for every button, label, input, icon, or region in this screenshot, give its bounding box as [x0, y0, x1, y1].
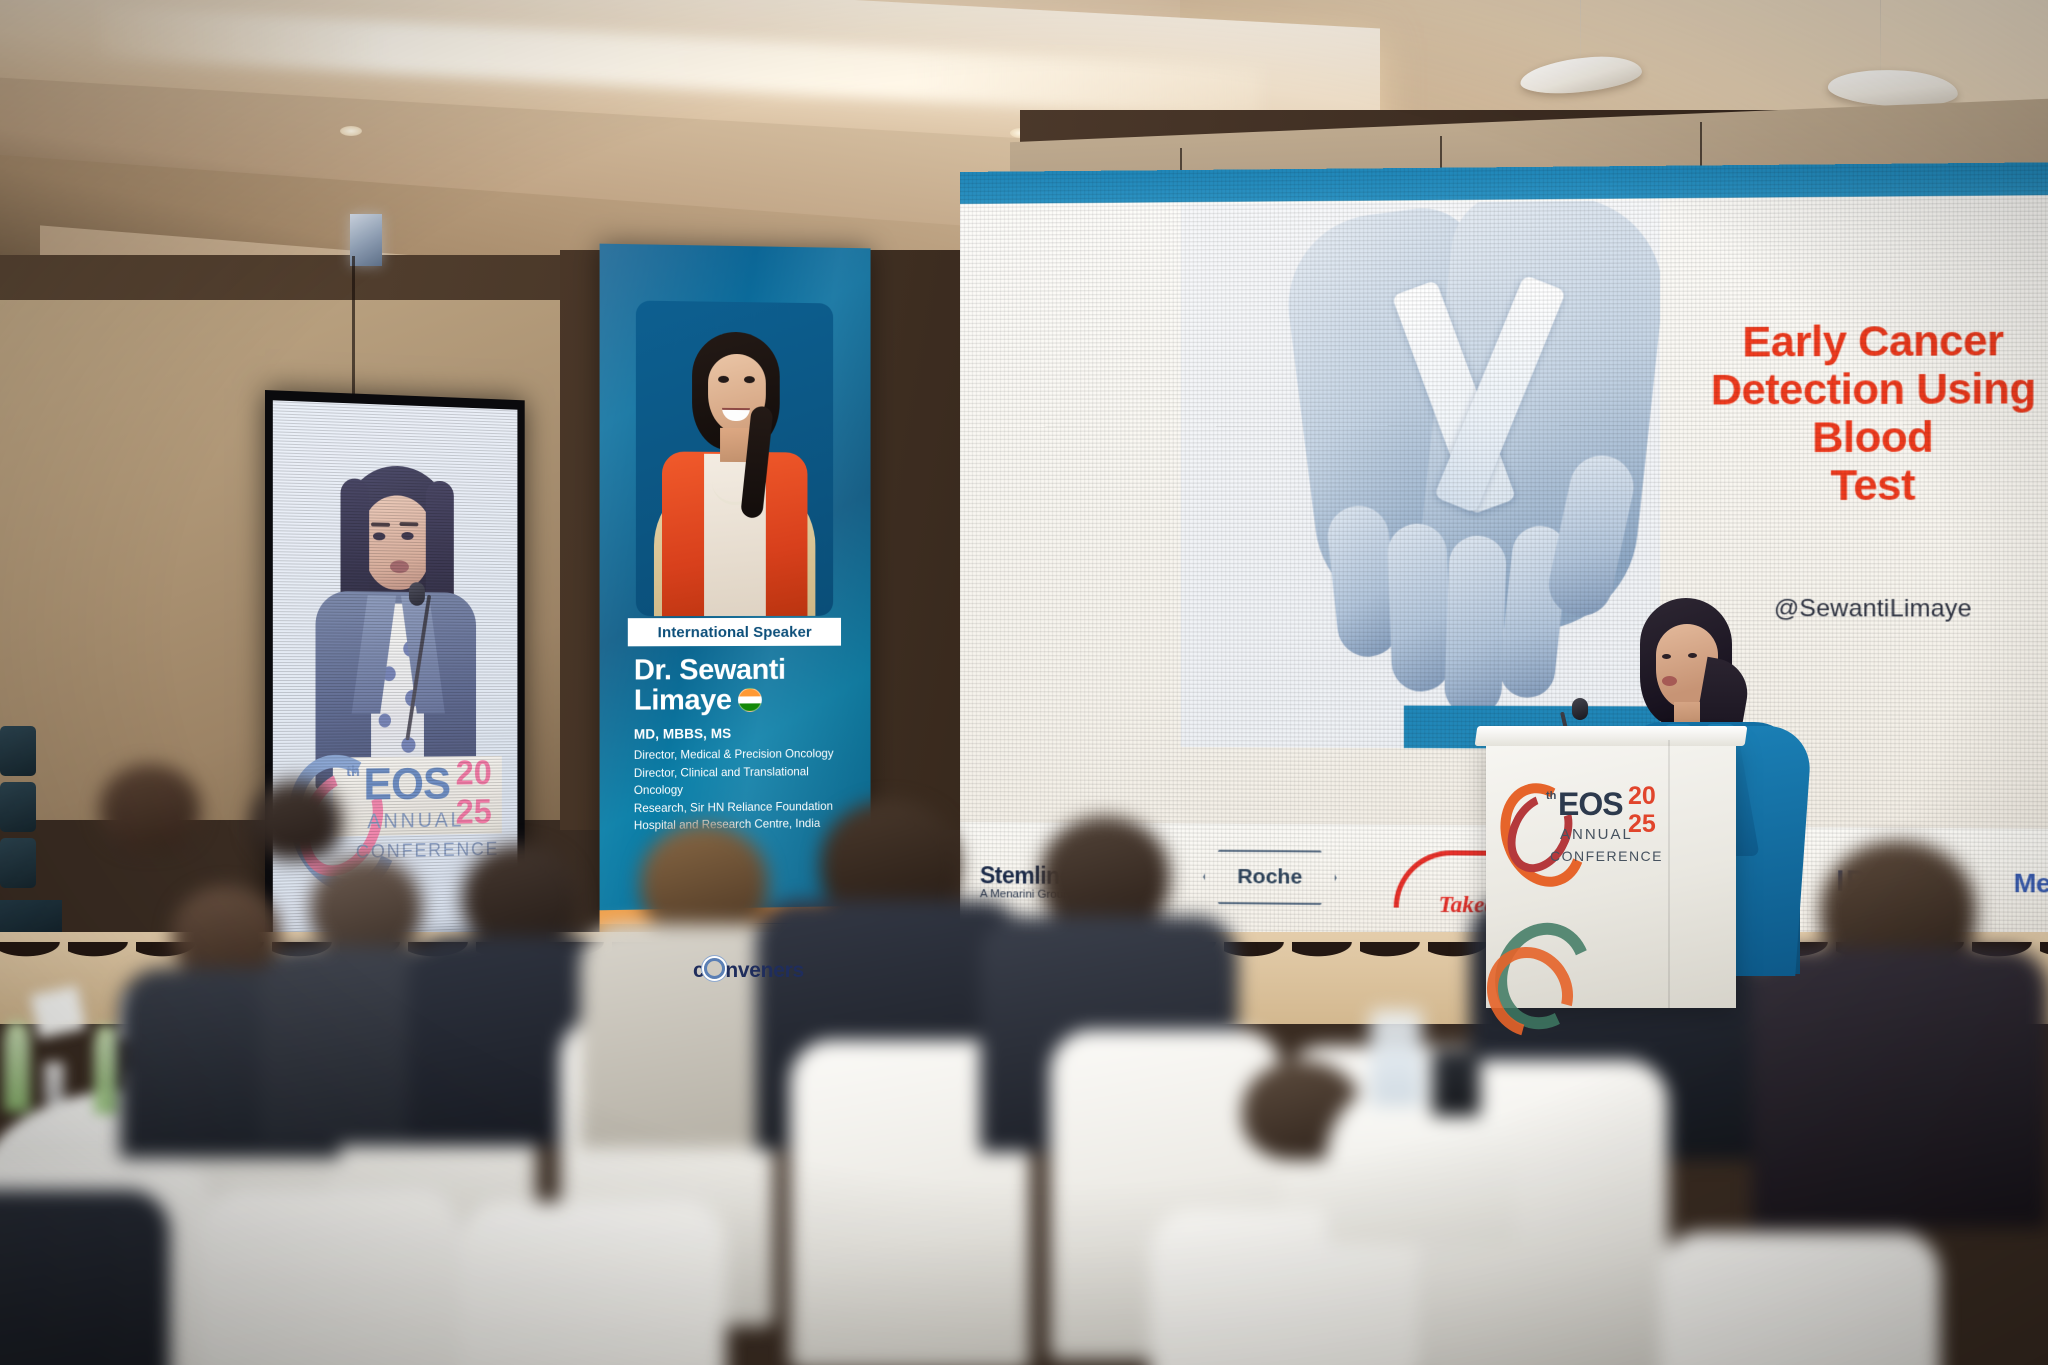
slide-image-hands-ribbon	[1181, 200, 1660, 749]
eye	[373, 532, 385, 540]
portrait-eye	[744, 376, 755, 383]
drinking-glass	[1370, 1010, 1422, 1106]
attendee-head	[250, 780, 342, 860]
speaker-face	[363, 495, 431, 591]
india-flag-icon	[738, 688, 762, 712]
podium: th EOS 20 25 ANNUAL CONFERENCE	[1486, 740, 1736, 1008]
eyebrow	[371, 522, 390, 526]
attendee-head	[100, 764, 200, 850]
mouth	[1662, 676, 1677, 686]
attendee-head	[172, 886, 280, 980]
international-speaker-tag: International Speaker	[628, 618, 841, 647]
attendee-torso	[1752, 948, 2048, 1228]
gear-icon	[704, 958, 725, 979]
banner-credentials: MD, MBBS, MS	[634, 725, 845, 742]
conveners-logo: cnveners	[693, 958, 804, 983]
banquet-chair	[460, 1202, 726, 1365]
podium-panel-seam	[1668, 740, 1670, 1008]
eye	[1688, 653, 1697, 658]
microphone-head	[1572, 698, 1588, 720]
logo-line2: ANNUAL	[1560, 826, 1633, 843]
floral-motif	[379, 714, 391, 728]
portrait-eye	[718, 376, 729, 383]
attendee-head	[640, 824, 768, 938]
finger	[1444, 535, 1508, 717]
device-on-table	[1432, 1050, 1480, 1116]
podium-top-surface	[1475, 726, 1748, 746]
speaker-portrait-card	[636, 301, 833, 617]
microphone-head	[409, 582, 425, 606]
tag-label: International Speaker	[658, 623, 812, 640]
name-line-1: Dr. Sewanti	[634, 656, 853, 687]
attendee-torso	[0, 1190, 170, 1365]
eyebrow	[399, 522, 418, 526]
eye	[1662, 654, 1671, 659]
logo-acronym: EOS	[1558, 786, 1623, 823]
attendee-head	[310, 856, 422, 956]
slide-title-line-2: Detection Using Blood	[1670, 364, 2048, 461]
pendant-wire	[1880, 0, 1881, 78]
pendant-wire	[1580, 0, 1581, 66]
attendee-head	[1040, 816, 1170, 932]
banner-speaker-name: Dr. Sewanti Limaye	[634, 656, 853, 716]
logo-year-top: 20	[1628, 782, 1656, 811]
downlight	[340, 126, 362, 136]
banquet-chair	[200, 1190, 460, 1365]
logo-line3: CONFERENCE	[1550, 848, 1663, 864]
mouth	[390, 560, 409, 573]
finger	[1387, 523, 1452, 693]
event-logo-podium: th EOS 20 25 ANNUAL CONFERENCE	[1502, 774, 1642, 886]
eye	[401, 532, 413, 540]
logo-ordinal-suffix: th	[1546, 790, 1556, 802]
name-line-2: Limaye	[634, 686, 732, 716]
attendee-head	[462, 844, 578, 948]
banquet-chair	[1660, 1232, 1940, 1365]
conference-photo: th EOS 20 25 ANNUAL CONFERENCE	[0, 0, 2048, 1365]
slide-title: Early Cancer Detection Using Blood Test	[1670, 316, 2048, 509]
slide-title-line-1: Early Cancer	[1670, 316, 2048, 366]
slide-title-line-3: Test	[1670, 461, 2048, 510]
